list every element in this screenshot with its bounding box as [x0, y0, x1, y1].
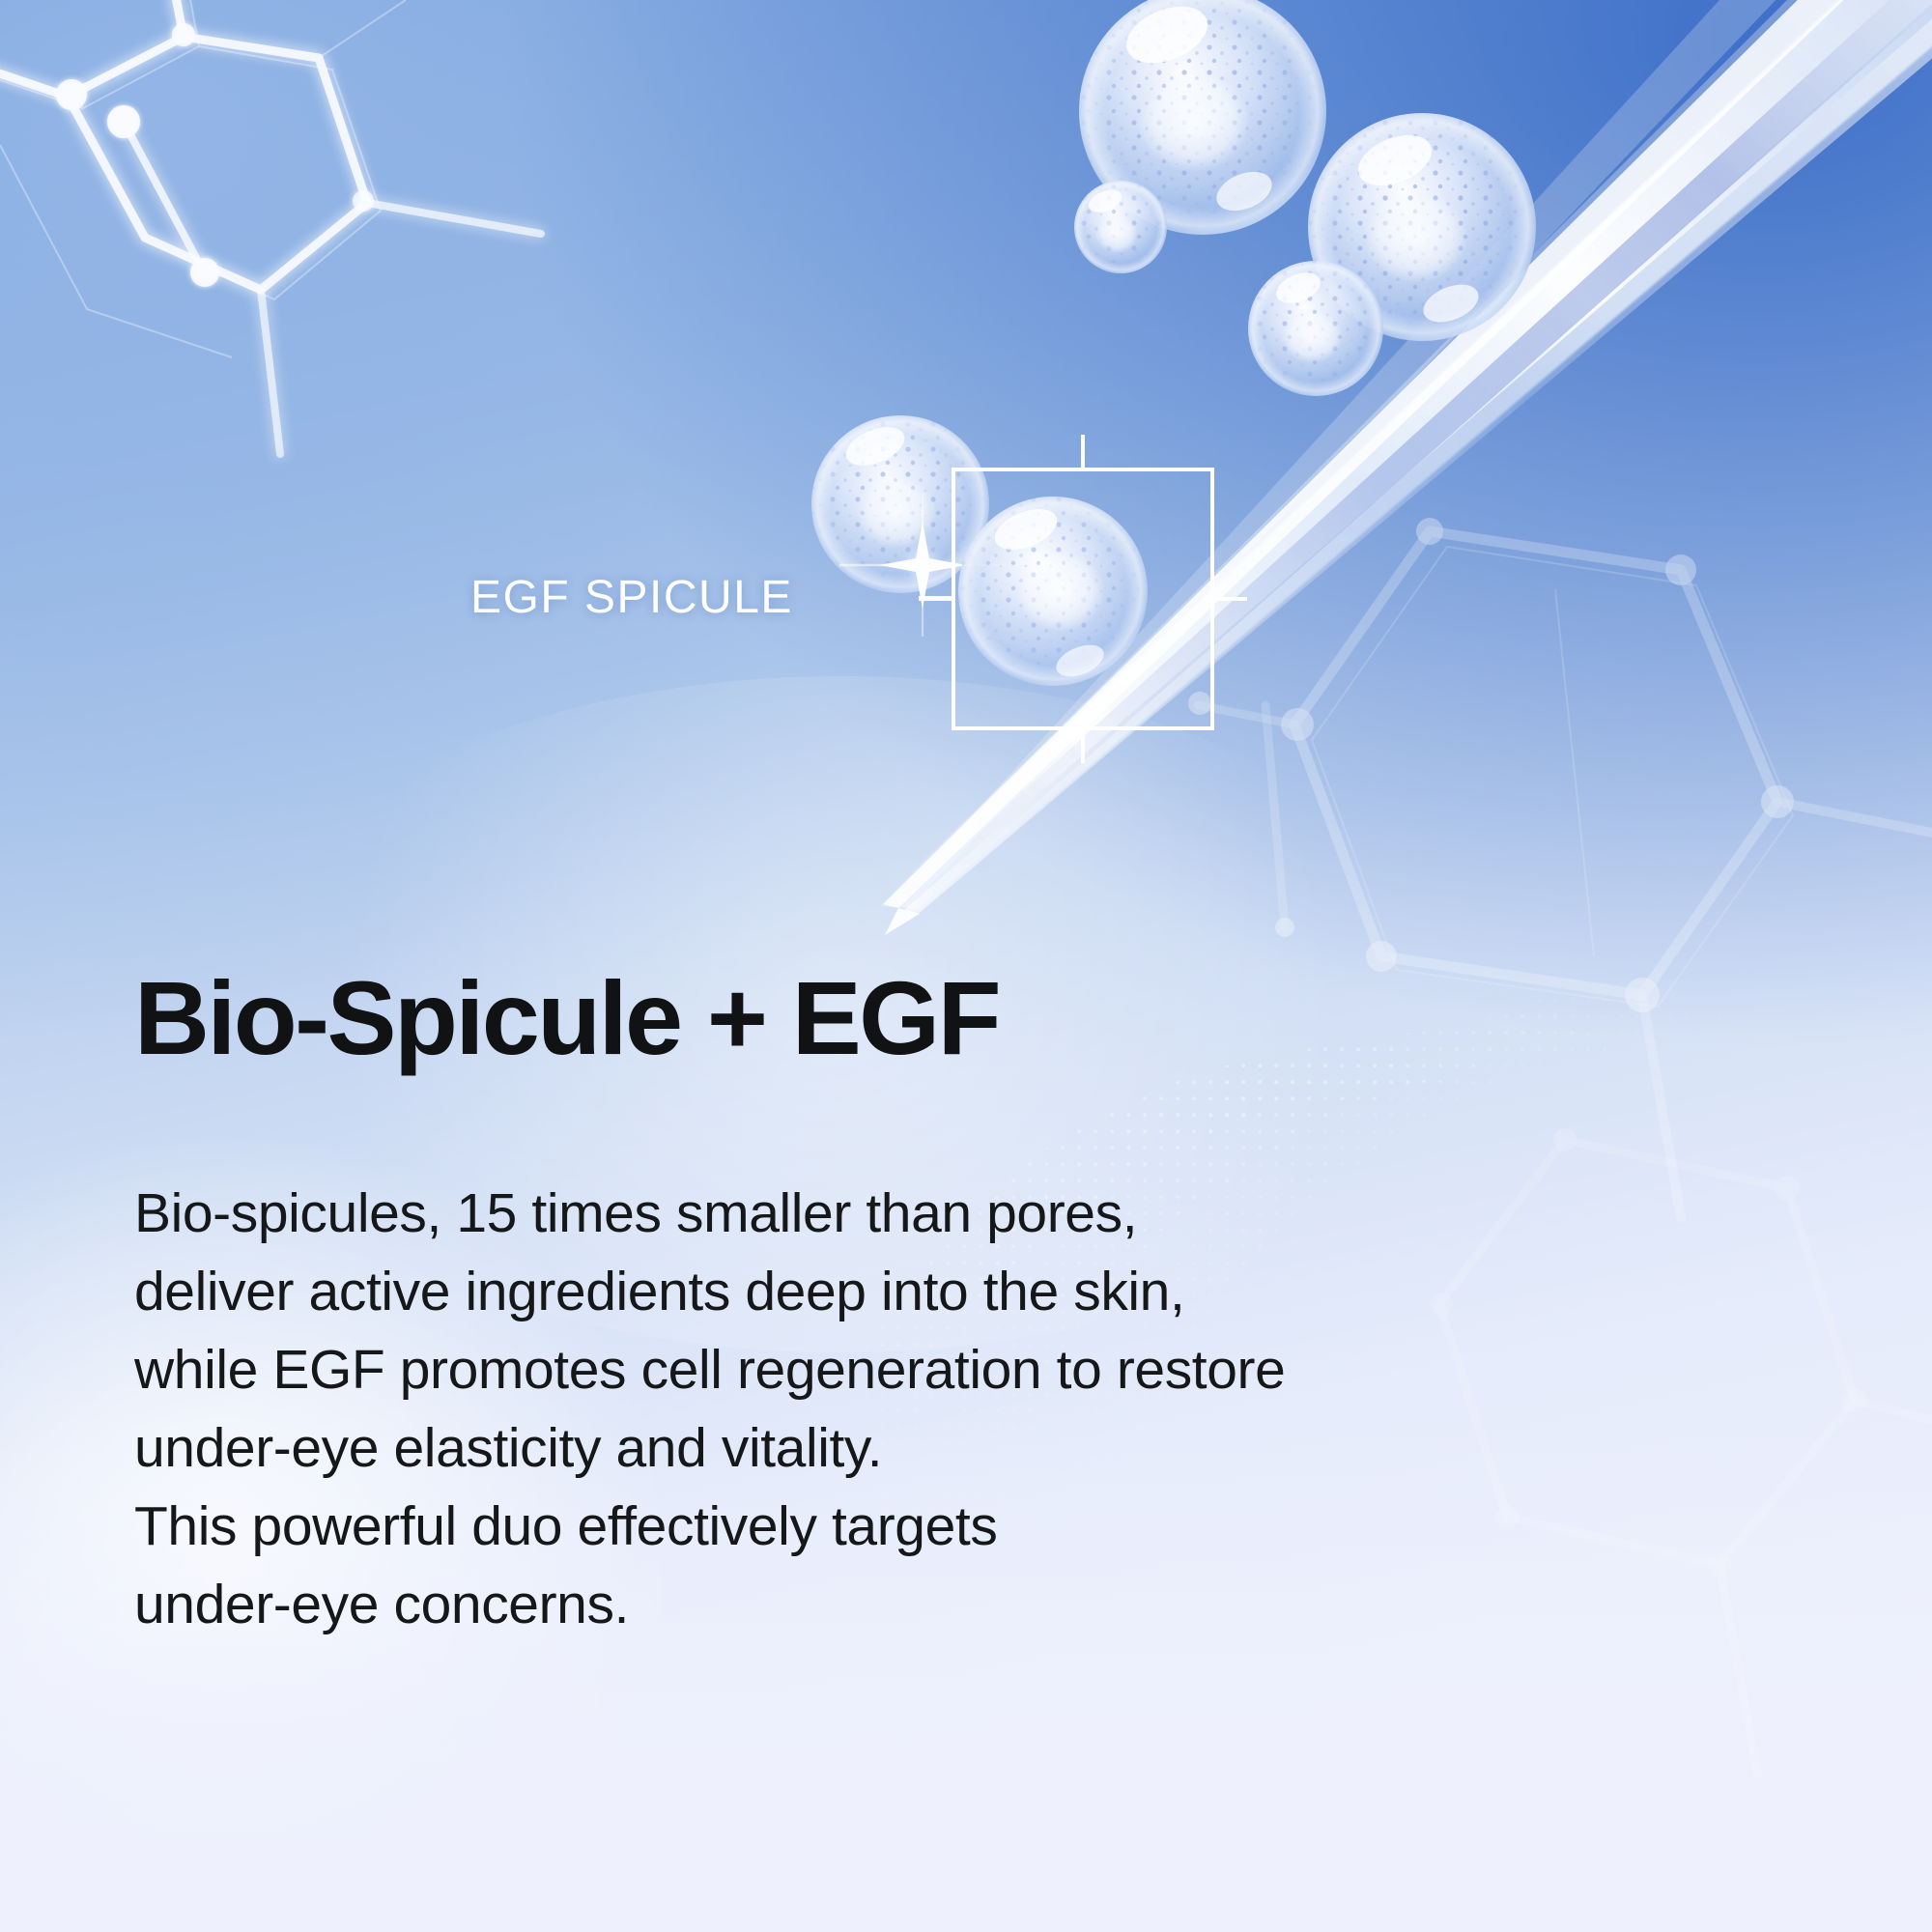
ingredient-poster: EGF SPICULE Bio-Spicule + EGF Bio-spicul…	[0, 0, 1932, 1932]
serum-bubble-icon	[1072, 0, 1343, 251]
body-line: while EGF promotes cell regeneration to …	[134, 1331, 1834, 1409]
leader-line-icon	[919, 596, 952, 600]
body-line: deliver active ingredients deep into the…	[134, 1253, 1834, 1331]
reticle-edge-left	[952, 468, 955, 730]
body-line: This powerful duo effectively targets	[134, 1488, 1834, 1566]
callout-label: EGF SPICULE	[470, 575, 793, 621]
serum-bubble-icon	[1242, 255, 1389, 402]
page-title: Bio-Spicule + EGF	[134, 966, 1834, 1070]
serum-bubble-icon	[1302, 107, 1546, 351]
focus-bracket-icon	[952, 468, 1214, 730]
body-line: under-eye elasticity and vitality.	[134, 1409, 1834, 1488]
copy-block: Bio-Spicule + EGF Bio-spicules, 15 times…	[134, 966, 1834, 1644]
reticle-tick-right	[1214, 597, 1247, 601]
reticle-tick-top	[1081, 435, 1085, 468]
reticle-edge-top	[952, 468, 1214, 471]
body-line: under-eye concerns.	[134, 1566, 1834, 1644]
body-line: Bio-spicules, 15 times smaller than pore…	[134, 1175, 1834, 1253]
reticle-tick-bottom	[1081, 730, 1085, 763]
serum-bubble-icon	[1070, 177, 1171, 277]
hexagon-molecule-icon	[0, 0, 599, 531]
body-copy: Bio-spicules, 15 times smaller than pore…	[134, 1175, 1834, 1644]
